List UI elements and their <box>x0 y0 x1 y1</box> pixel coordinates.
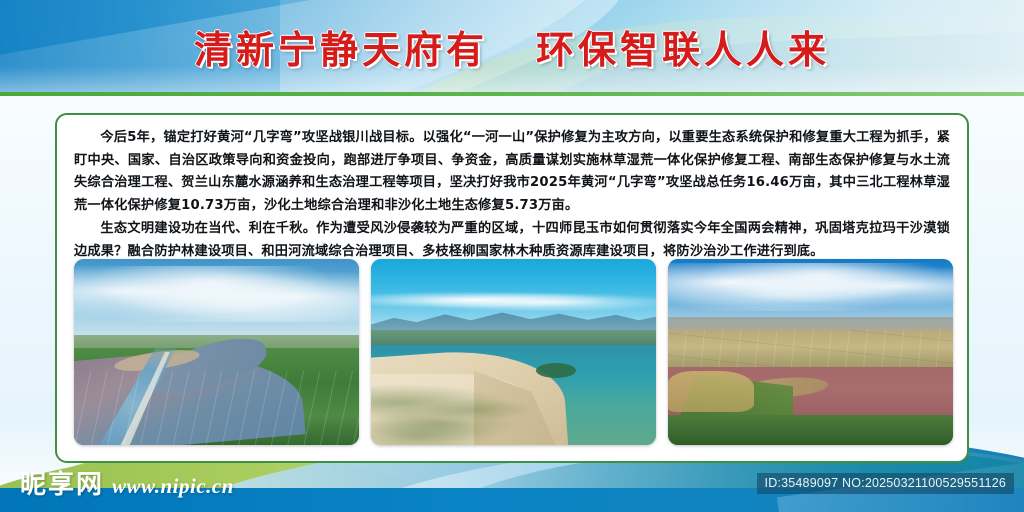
photo-2-desert-lake <box>371 259 656 445</box>
photo-3-clouds <box>668 263 953 311</box>
photo-3-green-foreground <box>668 415 953 445</box>
photo-1-field-lines <box>74 371 359 445</box>
body-paragraph-1: 今后5年，锚定打好黄河“几字弯”攻坚战银川战目标。以强化“一河一山”保护修复为主… <box>74 127 950 217</box>
photo-strip <box>74 259 954 449</box>
poster-root: 清新宁静天府有 环保智联人人来 昵享网 www.nipic.cn ID:3548… <box>0 0 1024 512</box>
header-green-rule <box>0 92 1024 96</box>
title-left: 清新宁静天府有 <box>194 19 488 74</box>
title-right: 环保智联人人来 <box>536 19 830 74</box>
header-title-row: 清新宁静天府有 环保智联人人来 <box>0 0 1024 92</box>
id-badge: ID:35489097 NO:20250321100529551126 <box>757 473 1014 494</box>
body-paragraph-2: 生态文明建设功在当代、利在千秋。作为遭受风沙侵袭较为严重的区域，十四师昆玉市如何… <box>74 218 950 263</box>
photo-3-yellow-right <box>668 371 754 412</box>
watermark: 昵享网 www.nipic.cn <box>20 464 234 501</box>
photo-1-river-farmland <box>74 259 359 445</box>
photo-2-vegetation-spots <box>371 374 656 445</box>
watermark-logo-text: 昵享网 <box>20 464 104 501</box>
content-card: 今后5年，锚定打好黄河“几字弯”攻坚战银川战目标。以强化“一河一山”保护修复为主… <box>55 113 969 463</box>
photo-3-silty-river <box>668 259 953 445</box>
photo-1-clouds <box>74 266 359 322</box>
watermark-url: www.nipic.cn <box>112 474 234 499</box>
photo-2-clouds <box>371 289 656 311</box>
